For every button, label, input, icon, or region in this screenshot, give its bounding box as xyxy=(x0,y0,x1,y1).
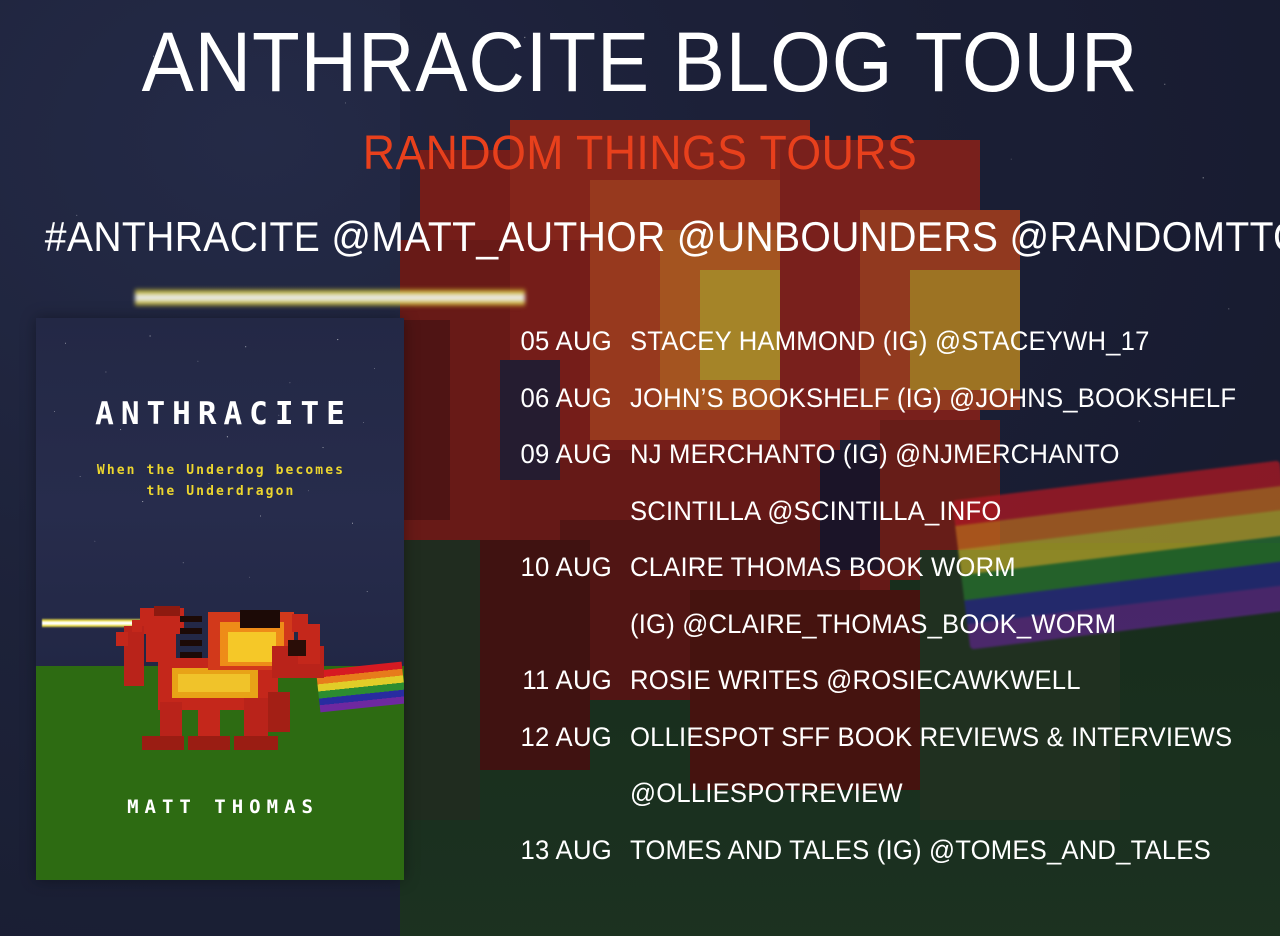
schedule-entry: @OLLIESPOTREVIEW xyxy=(630,778,903,809)
schedule-date: 05 AUG xyxy=(506,326,612,357)
schedule-date: 06 AUG xyxy=(506,383,612,414)
schedule-date: 13 AUG xyxy=(506,835,612,866)
schedule-entry: JOHN’S BOOKSHELF (IG) @JOHNS_BOOKSHELF xyxy=(630,383,1236,414)
schedule-row: 12 AUG OLLIESPOT SFF BOOK REVIEWS & INTE… xyxy=(500,722,1260,779)
schedule-row: @OLLIESPOTREVIEW xyxy=(500,778,1260,835)
schedule-row: (IG) @CLAIRE_THOMAS_BOOK_WORM xyxy=(500,609,1260,666)
laser-beam-decoration xyxy=(135,288,525,307)
cover-pixel-dragon xyxy=(102,606,352,766)
cover-author-name: MATT THOMAS xyxy=(36,796,404,818)
schedule-entry: STACEY HAMMOND (IG) @STACEYWH_17 xyxy=(630,326,1150,357)
schedule-entry: TOMES AND TALES (IG) @TOMES_AND_TALES xyxy=(630,835,1211,866)
schedule-entry: CLAIRE THOMAS BOOK WORM xyxy=(630,552,1016,583)
schedule-date: 09 AUG xyxy=(506,439,612,470)
schedule-entry: ROSIE WRITES @ROSIECAWKWELL xyxy=(630,665,1081,696)
schedule-row: 06 AUG JOHN’S BOOKSHELF (IG) @JOHNS_BOOK… xyxy=(500,383,1260,440)
cover-tagline-line2: the Underdragon xyxy=(36,481,404,502)
cover-title: ANTHRACITE xyxy=(36,396,404,432)
schedule-row: 13 AUG TOMES AND TALES (IG) @TOMES_AND_T… xyxy=(500,835,1260,892)
schedule-entry: OLLIESPOT SFF BOOK REVIEWS & INTERVIEWS xyxy=(630,722,1232,753)
tour-schedule: 05 AUG STACEY HAMMOND (IG) @STACEYWH_17 … xyxy=(500,326,1260,891)
page-title: ANTHRACITE BLOG TOUR xyxy=(45,20,1235,104)
schedule-entry: SCINTILLA @SCINTILLA_INFO xyxy=(630,496,1001,527)
schedule-row: 05 AUG STACEY HAMMOND (IG) @STACEYWH_17 xyxy=(500,326,1260,383)
schedule-row: 09 AUG NJ MERCHANTO (IG) @NJMERCHANTO xyxy=(500,439,1260,496)
blog-tour-poster: ANTHRACITE BLOG TOUR RANDOM THINGS TOURS… xyxy=(0,0,1280,936)
book-cover: ANTHRACITE When the Underdog becomes the… xyxy=(36,318,404,880)
cover-tagline-line1: When the Underdog becomes xyxy=(36,460,404,481)
schedule-row: 11 AUG ROSIE WRITES @ROSIECAWKWELL xyxy=(500,665,1260,722)
schedule-row: SCINTILLA @SCINTILLA_INFO xyxy=(500,496,1260,553)
schedule-entry: (IG) @CLAIRE_THOMAS_BOOK_WORM xyxy=(630,609,1116,640)
tour-organiser-subtitle: RANDOM THINGS TOURS xyxy=(45,130,1235,178)
schedule-date: 12 AUG xyxy=(506,722,612,753)
schedule-row: 10 AUG CLAIRE THOMAS BOOK WORM xyxy=(500,552,1260,609)
social-handles: #ANTHRACITE @MATT_AUTHOR @UNBOUNDERS @RA… xyxy=(45,216,1235,258)
cover-tagline: When the Underdog becomes the Underdrago… xyxy=(36,460,404,503)
schedule-date: 10 AUG xyxy=(506,552,612,583)
schedule-date: 11 AUG xyxy=(506,665,612,696)
schedule-entry: NJ MERCHANTO (IG) @NJMERCHANTO xyxy=(630,439,1120,470)
